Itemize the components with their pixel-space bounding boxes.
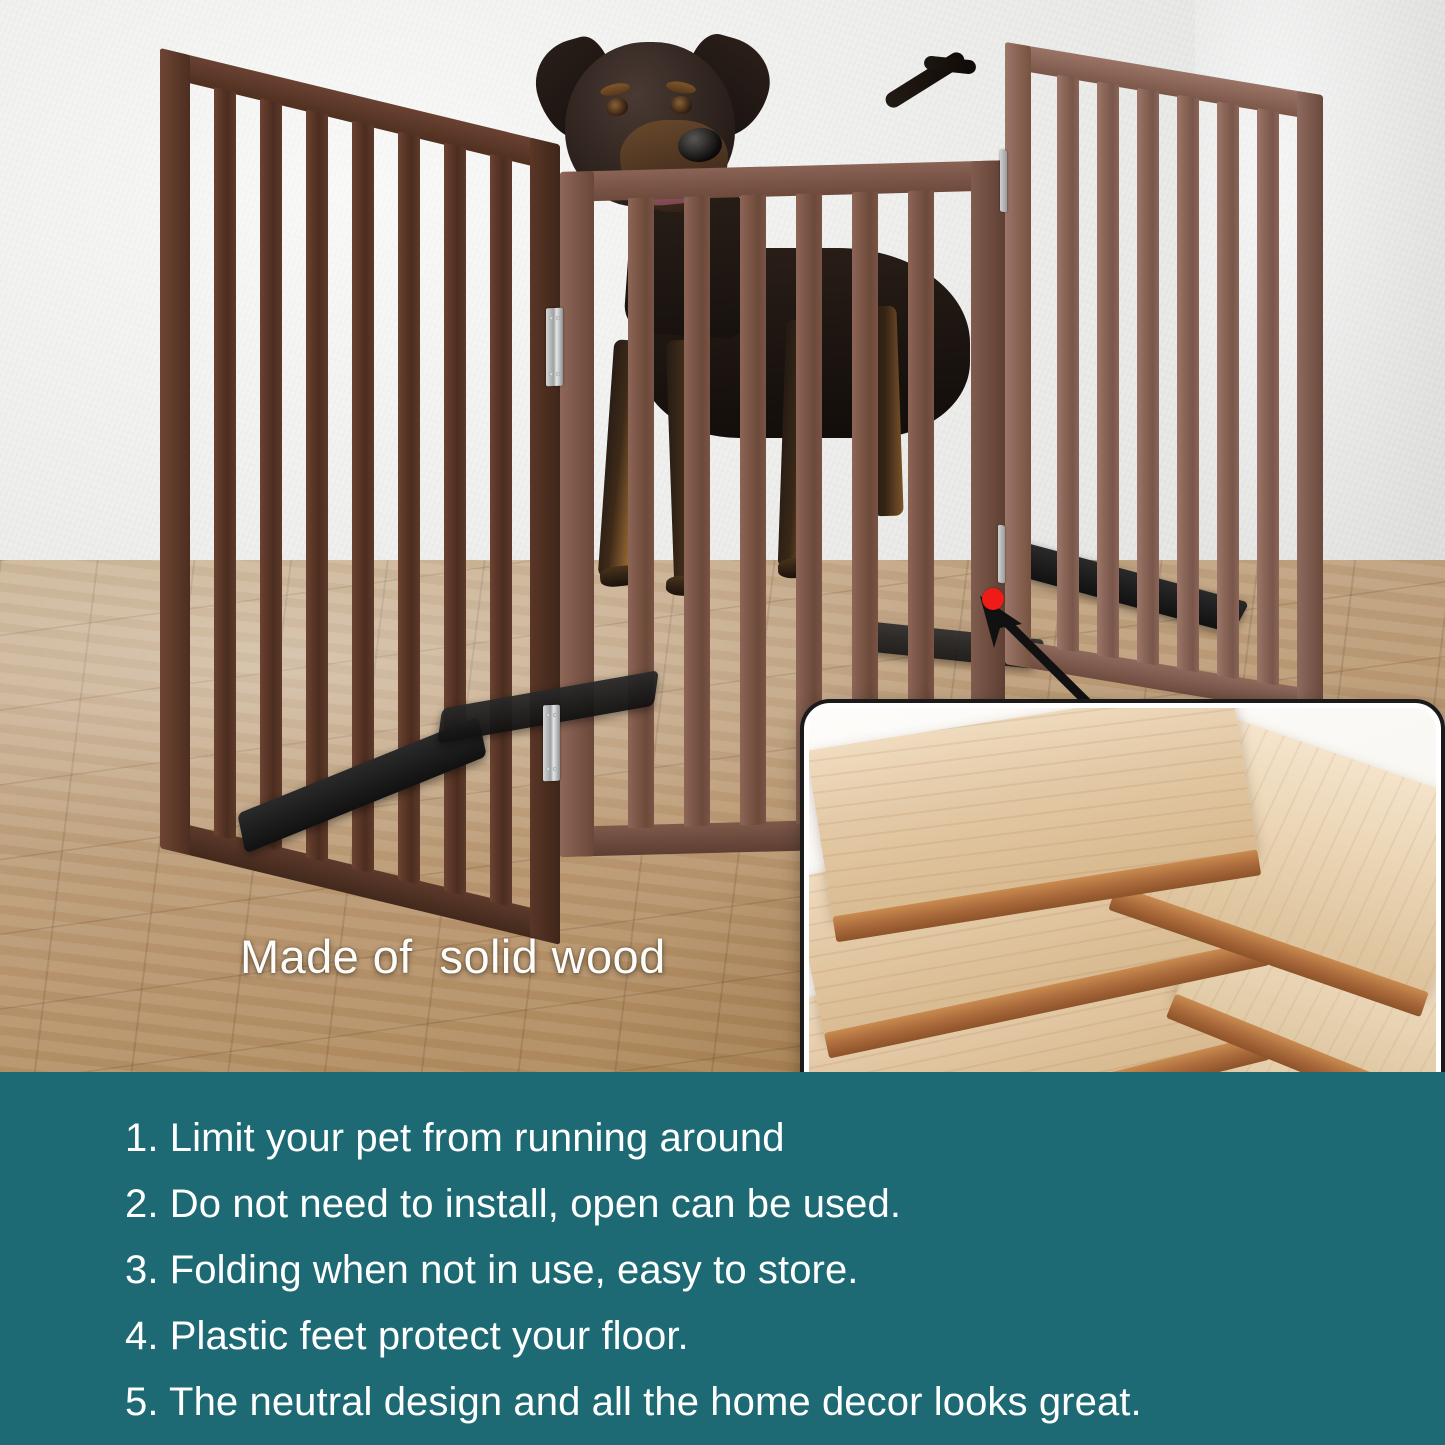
gate-slat [1137, 88, 1159, 666]
panel-frame-left [160, 48, 190, 855]
panel-frame-right [530, 138, 560, 945]
panel-frame-left [1005, 42, 1031, 668]
gate-hinge [543, 705, 560, 782]
feature-item: 3. Folding when not in use, easy to stor… [0, 1250, 1445, 1290]
gate-slat [306, 109, 328, 862]
feature-item: 1. Limit your pet from running around [0, 1118, 1445, 1158]
product-photo: Made of solid wood [0, 0, 1445, 1072]
gate-slat [684, 196, 710, 827]
feature-list-panel: 1. Limit your pet from running around 2.… [0, 1072, 1445, 1445]
gate-slat [1257, 108, 1279, 686]
red-dot-marker [982, 588, 1004, 610]
gate-slat [490, 154, 512, 907]
gate-hinge [998, 524, 1005, 583]
gate-slat [214, 87, 236, 840]
gate-slat [1057, 75, 1079, 653]
gate-slat [628, 198, 654, 829]
solid-wood-inset-photo [804, 703, 1441, 1072]
gate-slat [1097, 81, 1119, 659]
feature-item: 5. The neutral design and all the home d… [0, 1382, 1445, 1422]
gate-hinge [546, 308, 563, 387]
gate-slat [740, 195, 766, 826]
solid-wood-caption: Made of solid wood [240, 929, 666, 984]
gate-slat [260, 98, 282, 851]
gate-slat [1217, 101, 1239, 679]
feature-list: 1. Limit your pet from running around 2.… [0, 1072, 1445, 1445]
gate-slat [1177, 95, 1199, 673]
arrow-pointer-icon [950, 590, 1110, 720]
gate-slat [444, 143, 466, 896]
feature-item: 2. Do not need to install, open can be u… [0, 1184, 1445, 1224]
panel-frame-right [1297, 91, 1323, 717]
gate-panel-left [160, 48, 560, 975]
panel-frame-left [560, 171, 594, 857]
product-infographic: Made of solid wood 1. Limit your pet fro… [0, 0, 1445, 1445]
feature-item: 4. Plastic feet protect your floor. [0, 1316, 1445, 1356]
gate-hinge [1000, 149, 1007, 212]
